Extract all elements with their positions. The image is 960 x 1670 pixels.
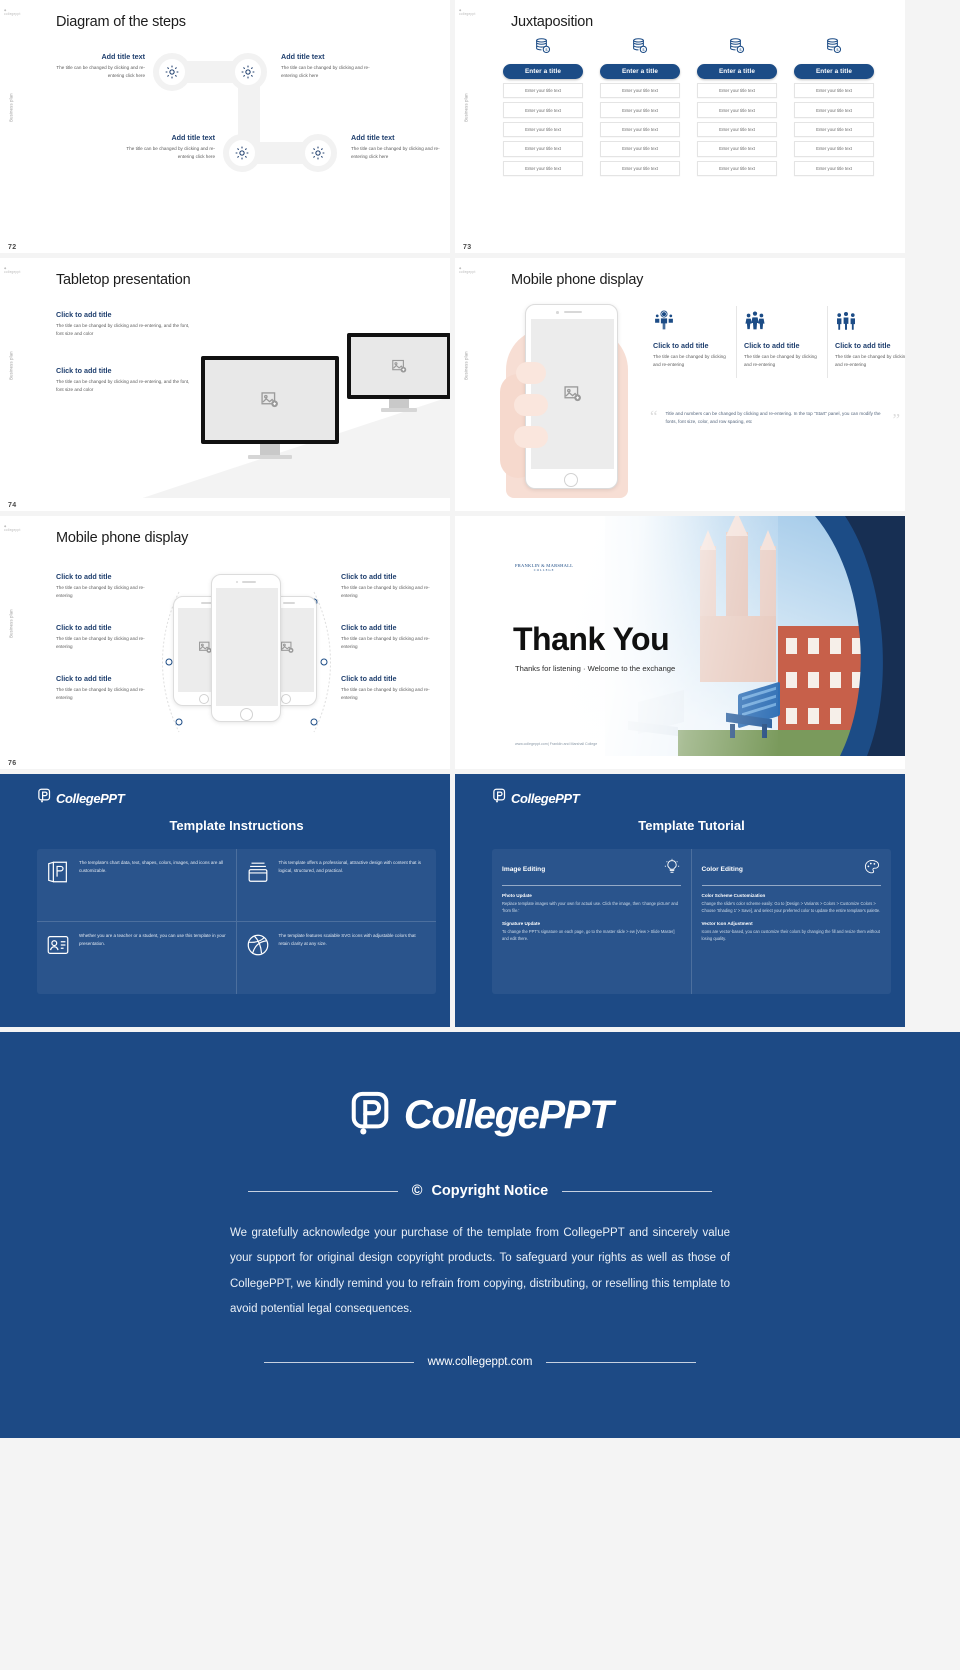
juxtaposition-cell[interactable]: Enter your title text bbox=[794, 83, 874, 98]
divider-1 bbox=[736, 306, 737, 378]
instruction-text-2: This template offers a professional, att… bbox=[279, 859, 429, 876]
ppt-file-icon bbox=[45, 859, 71, 890]
phone-feature-head: Click to add title bbox=[341, 674, 441, 683]
phone-feature-head: Click to add title bbox=[341, 572, 441, 581]
tabletop-head-1: Click to add title bbox=[56, 310, 191, 319]
panel-title: Template Tutorial bbox=[492, 818, 891, 833]
tutorial-card-2-rule bbox=[702, 885, 882, 886]
phone-feature-right-3: Click to add titleThe title can be chang… bbox=[341, 674, 441, 702]
slide-title: Mobile phone display bbox=[56, 530, 188, 546]
database-money-icon: $ bbox=[794, 37, 874, 60]
juxtaposition-cell[interactable]: Enter your title text bbox=[697, 102, 777, 117]
copyright-url-row: www.collegeppt.com bbox=[0, 1356, 960, 1368]
mobile-head-1: Click to add title bbox=[653, 341, 733, 350]
side-logo: ◆ collegeppt bbox=[4, 8, 23, 16]
tabletop-head-2: Click to add title bbox=[56, 366, 191, 375]
tabletop-body-2: The title can be changed by clicking and… bbox=[56, 378, 191, 394]
quote-close-icon: ” bbox=[892, 413, 900, 427]
tutorial-c2-body-1: Change the slide's color scheme easily: … bbox=[702, 900, 882, 915]
mobile-head-3: Click to add title bbox=[835, 341, 905, 350]
step-head-2: Add title text bbox=[281, 52, 373, 61]
phone-feature-head: Click to add title bbox=[341, 623, 441, 632]
step-text-1: Add title text The title can be changed … bbox=[53, 52, 145, 79]
slide-side-tab: ◆ collegeppt Business plan bbox=[455, 0, 478, 240]
instruction-cell-1: The template's chart data, text, shapes,… bbox=[37, 849, 237, 922]
image-placeholder-icon bbox=[260, 390, 280, 410]
instruction-cell-4: The template features scalable SVG icons… bbox=[237, 922, 437, 994]
monitor-small bbox=[347, 333, 450, 412]
brand-logo: CollegePPT bbox=[492, 788, 891, 808]
slide-title: Diagram of the steps bbox=[56, 14, 186, 30]
quote-text: Title and numbers can be changed by clic… bbox=[666, 410, 885, 427]
juxtaposition-title-button-1[interactable]: Enter a title bbox=[503, 64, 583, 79]
slide-side-tab: ◆ collegeppt Business plan bbox=[0, 516, 23, 756]
tutorial-card-1-rule bbox=[502, 885, 681, 886]
phone-feature-head: Click to add title bbox=[56, 623, 156, 632]
juxtaposition-cell[interactable]: Enter your title text bbox=[600, 102, 680, 117]
brand-logo: CollegePPT bbox=[37, 788, 436, 808]
brand-name: CollegePPT bbox=[511, 791, 579, 806]
svg-text:$: $ bbox=[836, 48, 839, 52]
slide-side-tab: ◆ collegeppt Business plan bbox=[0, 258, 23, 498]
step-body-4: The title can be changed by clicking and… bbox=[351, 145, 443, 160]
slide-row-4: CollegePPT Template Instructions The tem… bbox=[0, 774, 960, 1027]
juxtaposition-cell[interactable]: Enter your title text bbox=[503, 161, 583, 176]
juxtaposition-column-4: $Enter a titleEnter your title textEnter… bbox=[794, 37, 874, 176]
phone-center bbox=[211, 574, 281, 722]
phone-feature-body: The title can be changed by clicking and… bbox=[56, 584, 156, 600]
mobile-feature-2: Click to add title The title can be chan… bbox=[744, 310, 824, 369]
juxtaposition-column-3: $Enter a titleEnter your title textEnter… bbox=[697, 37, 777, 176]
three-people-icon bbox=[835, 310, 905, 337]
svg-text:$: $ bbox=[545, 48, 548, 52]
juxtaposition-cell[interactable]: Enter your title text bbox=[697, 141, 777, 156]
phone-feature-right-3: Click to add titleThe title can be chang… bbox=[56, 674, 156, 702]
phone-feature-body: The title can be changed by clicking and… bbox=[341, 686, 441, 702]
slide-mobile-display-a[interactable]: ◆ collegeppt Business plan Mobile phone … bbox=[455, 258, 905, 511]
mobile-feature-3: Click to add title The title can be chan… bbox=[835, 310, 905, 369]
phone-feature-body: The title can be changed by clicking and… bbox=[341, 584, 441, 600]
copyright-panel: CollegePPT © Copyright Notice We gratefu… bbox=[0, 1032, 960, 1438]
step-node-4[interactable] bbox=[299, 134, 337, 172]
copyright-url[interactable]: www.collegeppt.com bbox=[428, 1356, 533, 1368]
box-icon bbox=[245, 859, 271, 890]
copyright-symbol-icon: © bbox=[412, 1183, 423, 1199]
database-money-icon: $ bbox=[600, 37, 680, 60]
juxtaposition-cell[interactable]: Enter your title text bbox=[697, 161, 777, 176]
divider-right-url bbox=[546, 1362, 696, 1363]
step-head-1: Add title text bbox=[53, 52, 145, 61]
side-vertical-label: Business plan bbox=[9, 594, 14, 654]
step-node-2[interactable] bbox=[229, 53, 267, 91]
image-placeholder-icon bbox=[391, 358, 408, 375]
mobile-body-1: The title can be changed by clicking and… bbox=[653, 353, 733, 369]
gear-icon bbox=[310, 145, 326, 161]
juxtaposition-cell[interactable]: Enter your title text bbox=[794, 141, 874, 156]
slide-76[interactable]: ◆ collegeppt Business plan Mobile phone … bbox=[0, 516, 450, 769]
thank-you-footer: www.collegeppt.com| Franklin and Marshal… bbox=[515, 742, 597, 746]
instruction-text-3: Whether you are a teacher or a student, … bbox=[79, 932, 228, 949]
tutorial-c1-sub-2: Signature Update bbox=[502, 921, 681, 926]
group-people-icon bbox=[744, 310, 824, 337]
college-wordmark-line2: COLLEGE bbox=[515, 569, 573, 572]
gear-icon bbox=[164, 64, 180, 80]
mobile-head-2: Click to add title bbox=[744, 341, 824, 350]
svg-text:$: $ bbox=[739, 48, 742, 52]
brand-name: CollegePPT bbox=[56, 791, 124, 806]
juxtaposition-cell[interactable]: Enter your title text bbox=[697, 83, 777, 98]
mobile-body-2: The title can be changed by clicking and… bbox=[744, 353, 824, 369]
juxtaposition-column-1: $Enter a titleEnter your title textEnter… bbox=[503, 37, 583, 176]
slide-page-number: 74 bbox=[8, 502, 16, 509]
svg-text:$: $ bbox=[642, 48, 645, 52]
copyright-notice-heading: © Copyright Notice bbox=[412, 1183, 549, 1199]
team-check-icon bbox=[653, 310, 733, 337]
phone-feature-head: Click to add title bbox=[56, 674, 156, 683]
tabletop-text-2: Click to add title The title can be chan… bbox=[56, 366, 191, 394]
phone-cluster bbox=[173, 574, 318, 744]
juxtaposition-cell[interactable]: Enter your title text bbox=[503, 102, 583, 117]
divider-right bbox=[562, 1191, 712, 1192]
step-text-4: Add title text The title can be changed … bbox=[351, 133, 443, 160]
step-node-1[interactable] bbox=[153, 53, 191, 91]
juxtaposition-cell[interactable]: Enter your title text bbox=[794, 102, 874, 117]
step-node-3[interactable] bbox=[223, 134, 261, 172]
dribbble-icon bbox=[245, 932, 271, 963]
thank-you-subtitle: Thanks for listening · Welcome to the ex… bbox=[515, 664, 675, 673]
side-vertical-label: Business plan bbox=[464, 78, 469, 138]
panel-template-tutorial[interactable]: CollegePPT Template Tutorial Image Editi… bbox=[455, 774, 905, 1027]
tutorial-c1-sub-1: Photo Update bbox=[502, 893, 681, 898]
juxtaposition-title-button-3[interactable]: Enter a title bbox=[697, 64, 777, 79]
instruction-text-4: The template features scalable SVG icons… bbox=[279, 932, 429, 949]
instruction-cell-2: This template offers a professional, att… bbox=[237, 849, 437, 922]
slide-title: Juxtaposition bbox=[511, 14, 593, 30]
phone-feature-head: Click to add title bbox=[56, 572, 156, 581]
step-body-2: The title can be changed by clicking and… bbox=[281, 64, 373, 79]
gear-icon bbox=[234, 145, 250, 161]
divider-left bbox=[248, 1191, 398, 1192]
phone-feature-body: The title can be changed by clicking and… bbox=[56, 635, 156, 651]
side-logo: ◆ collegeppt bbox=[4, 524, 23, 532]
tabletop-text-1: Click to add title The title can be chan… bbox=[56, 310, 191, 338]
divider-left-url bbox=[264, 1362, 414, 1363]
tutorial-card-2-heading: Color Editing bbox=[702, 866, 743, 873]
slide-72[interactable]: ◆ collegeppt Business plan Diagram of th… bbox=[0, 0, 450, 253]
juxtaposition-cell[interactable]: Enter your title text bbox=[697, 122, 777, 137]
tutorial-c1-body-2: To change the PPT's signature on each pa… bbox=[502, 928, 681, 943]
copyright-body: We gratefully acknowledge your purchase … bbox=[230, 1221, 730, 1322]
step-head-3: Add title text bbox=[123, 133, 215, 142]
lightbulb-icon bbox=[663, 858, 681, 881]
slide-title: Tabletop presentation bbox=[56, 272, 190, 288]
presentation-contact-sheet: ◆ collegeppt Business plan Diagram of th… bbox=[0, 0, 960, 1670]
phone-feature-body: The title can be changed by clicking and… bbox=[56, 686, 156, 702]
tutorial-c2-body-2: Icons are vector-based, you can customiz… bbox=[702, 928, 882, 943]
juxtaposition-title-button-4[interactable]: Enter a title bbox=[794, 64, 874, 79]
copyright-notice-row: © Copyright Notice bbox=[0, 1183, 960, 1199]
gear-icon bbox=[240, 64, 256, 80]
slide-row-1: ◆ collegeppt Business plan Diagram of th… bbox=[0, 0, 960, 253]
slide-page-number: 72 bbox=[8, 244, 16, 251]
tutorial-c2-sub-2: Vector Icon Adjustment bbox=[702, 921, 882, 926]
collegeppt-mark-icon bbox=[37, 788, 52, 808]
step-body-1: The title can be changed by clicking and… bbox=[53, 64, 145, 79]
side-vertical-label: Business plan bbox=[9, 336, 14, 396]
slide-row-3: ◆ collegeppt Business plan Mobile phone … bbox=[0, 516, 960, 769]
mobile-body-3: The title can be changed by clicking and… bbox=[835, 353, 905, 369]
quote-block: “ Title and numbers can be changed by cl… bbox=[650, 410, 900, 427]
thank-you-title: Thank You bbox=[513, 621, 669, 658]
slide-page-number: 76 bbox=[8, 760, 16, 767]
panel-template-instructions[interactable]: CollegePPT Template Instructions The tem… bbox=[0, 774, 450, 1027]
copyright-brand-logo: CollegePPT bbox=[0, 1090, 960, 1141]
juxtaposition-cell[interactable]: Enter your title text bbox=[503, 122, 583, 137]
juxtaposition-cell[interactable]: Enter your title text bbox=[503, 141, 583, 156]
hand-holding-phone bbox=[500, 302, 645, 498]
college-wordmark: FRANKLIN & MARSHALL COLLEGE bbox=[515, 564, 573, 572]
slide-side-tab bbox=[455, 516, 478, 756]
collegeppt-mark-icon bbox=[492, 788, 507, 808]
copyright-brand-name: CollegePPT bbox=[404, 1093, 612, 1138]
image-placeholder-icon bbox=[563, 384, 583, 404]
tutorial-card-color-editing: Color Editing Color Scheme Customization… bbox=[692, 849, 892, 994]
juxtaposition-cell[interactable]: Enter your title text bbox=[600, 83, 680, 98]
slide-title: Mobile phone display bbox=[511, 272, 643, 288]
step-text-2: Add title text The title can be changed … bbox=[281, 52, 373, 79]
mobile-feature-1: Click to add title The title can be chan… bbox=[653, 310, 733, 369]
instruction-cell-3: Whether you are a teacher or a student, … bbox=[37, 922, 237, 994]
tutorial-c1-body-1: Replace template images with your own fo… bbox=[502, 900, 681, 915]
instructions-grid: The template's chart data, text, shapes,… bbox=[37, 849, 436, 994]
step-text-3: Add title text The title can be changed … bbox=[123, 133, 215, 160]
slide-page-number: 73 bbox=[463, 244, 471, 251]
phone-feature-right-2: Click to add titleThe title can be chang… bbox=[341, 623, 441, 651]
palette-icon bbox=[863, 858, 881, 881]
monitor-large bbox=[201, 356, 339, 459]
slide-74[interactable]: ◆ collegeppt Business plan Tabletop pres… bbox=[0, 258, 450, 511]
tutorial-c2-sub-1: Color Scheme Customization bbox=[702, 893, 882, 898]
juxtaposition-cell[interactable]: Enter your title text bbox=[600, 122, 680, 137]
quote-open-icon: “ bbox=[650, 410, 658, 427]
phone-feature-right-1: Click to add titleThe title can be chang… bbox=[341, 572, 441, 600]
juxtaposition-cell[interactable]: Enter your title text bbox=[794, 122, 874, 137]
slide-row-2: ◆ collegeppt Business plan Tabletop pres… bbox=[0, 258, 960, 511]
image-placeholder-icon bbox=[280, 640, 295, 660]
instruction-text-1: The template's chart data, text, shapes,… bbox=[79, 859, 228, 876]
tutorial-card-1-heading: Image Editing bbox=[502, 866, 545, 873]
slide-73[interactable]: ◆ collegeppt Business plan Juxtaposition… bbox=[455, 0, 905, 253]
phone-feature-right-1: Click to add titleThe title can be chang… bbox=[56, 572, 156, 600]
blue-arc-decoration bbox=[745, 516, 905, 756]
step-head-4: Add title text bbox=[351, 133, 443, 142]
tutorial-grid: Image Editing Photo Update Replace templ… bbox=[492, 849, 891, 994]
phone-feature-right-2: Click to add titleThe title can be chang… bbox=[56, 623, 156, 651]
side-logo: ◆ collegeppt bbox=[4, 266, 23, 274]
juxtaposition-title-button-2[interactable]: Enter a title bbox=[600, 64, 680, 79]
juxtaposition-cell[interactable]: Enter your title text bbox=[503, 83, 583, 98]
slide-side-tab: ◆ collegeppt Business plan bbox=[455, 258, 478, 498]
database-money-icon: $ bbox=[503, 37, 583, 60]
copyright-notice-label: Copyright Notice bbox=[431, 1183, 548, 1199]
database-money-icon: $ bbox=[697, 37, 777, 60]
tutorial-card-image-editing: Image Editing Photo Update Replace templ… bbox=[492, 849, 692, 994]
divider-2 bbox=[827, 306, 828, 378]
tabletop-body-1: The title can be changed by clicking and… bbox=[56, 322, 191, 338]
juxtaposition-cell[interactable]: Enter your title text bbox=[794, 161, 874, 176]
side-vertical-label: Business plan bbox=[464, 336, 469, 396]
id-card-icon bbox=[45, 932, 71, 963]
slide-thank-you[interactable]: FRANKLIN & MARSHALL COLLEGE Thank You Th… bbox=[455, 516, 905, 769]
panel-title: Template Instructions bbox=[37, 818, 436, 833]
side-logo: ◆ collegeppt bbox=[459, 8, 478, 16]
juxtaposition-cell[interactable]: Enter your title text bbox=[600, 161, 680, 176]
side-vertical-label: Business plan bbox=[9, 78, 14, 138]
side-logo: ◆ collegeppt bbox=[459, 266, 478, 274]
collegeppt-mark-icon bbox=[348, 1090, 394, 1141]
slide-side-tab: ◆ collegeppt Business plan bbox=[0, 0, 23, 240]
phone-feature-body: The title can be changed by clicking and… bbox=[341, 635, 441, 651]
juxtaposition-cell[interactable]: Enter your title text bbox=[600, 141, 680, 156]
step-body-3: The title can be changed by clicking and… bbox=[123, 145, 215, 160]
juxtaposition-column-2: $Enter a titleEnter your title textEnter… bbox=[600, 37, 680, 176]
